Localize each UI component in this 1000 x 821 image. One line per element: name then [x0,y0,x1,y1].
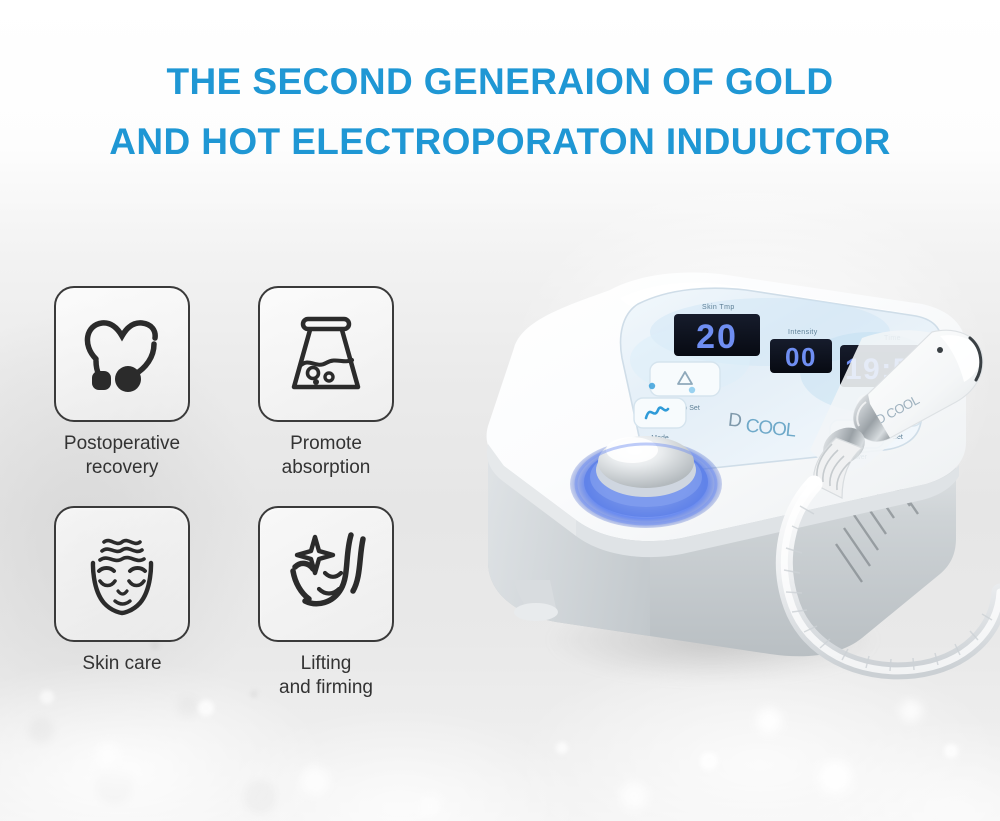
bokeh-dot [620,782,648,810]
feature-list: Postoperative recovery Promote absorptio… [48,286,398,700]
face-sparkle-profile-icon [279,531,373,617]
bokeh-dot [700,752,718,770]
display-label: Intensity [788,329,818,336]
display-label: Skin Tmp [702,304,735,311]
feature-icon-box [54,506,190,642]
beaker-flask-icon [283,311,369,397]
bokeh-dot [944,744,958,758]
display-value: 20 [696,318,738,356]
feature-label: Promote absorption [282,432,371,480]
feature-item-postoperative-recovery[interactable]: Postoperative recovery [48,286,196,480]
heart-stethoscope-icon [76,313,168,395]
feature-item-promote-absorption[interactable]: Promote absorption [252,286,400,480]
bokeh-dot [300,766,330,796]
feature-label: Lifting and firming [279,652,373,700]
headline-line-1: THE SECOND GENERAION OF GOLD [0,52,1000,112]
feature-item-skin-care[interactable]: Skin care [48,506,196,700]
feature-label: Postoperative recovery [64,432,180,480]
beauty-machine: Skin Tmp 20 Intensity 00 Time 19:50 Temp [470,262,1000,722]
bokeh-dot [420,796,440,816]
headline: THE SECOND GENERAION OF GOLD AND HOT ELE… [0,52,1000,172]
handpiece-indicator-dot [937,347,943,353]
feature-item-lifting-and-firming[interactable]: Lifting and firming [252,506,400,700]
feature-icon-box [54,286,190,422]
bokeh-dot [818,760,852,794]
feature-icon-box [258,506,394,642]
mode-led-2 [689,387,695,393]
bokeh-dot [556,742,568,754]
brand-letter: D [727,410,743,432]
feature-label: Skin care [82,652,161,676]
face-wrinkles-icon [78,529,166,619]
bokeh-dot [96,742,120,766]
bokeh-dot [198,700,214,716]
headline-line-2: AND HOT ELECTROPORATON INDUUCTOR [0,112,1000,172]
mode-led-1 [649,383,655,389]
display-value: 00 [785,342,817,372]
feature-icon-box [258,286,394,422]
